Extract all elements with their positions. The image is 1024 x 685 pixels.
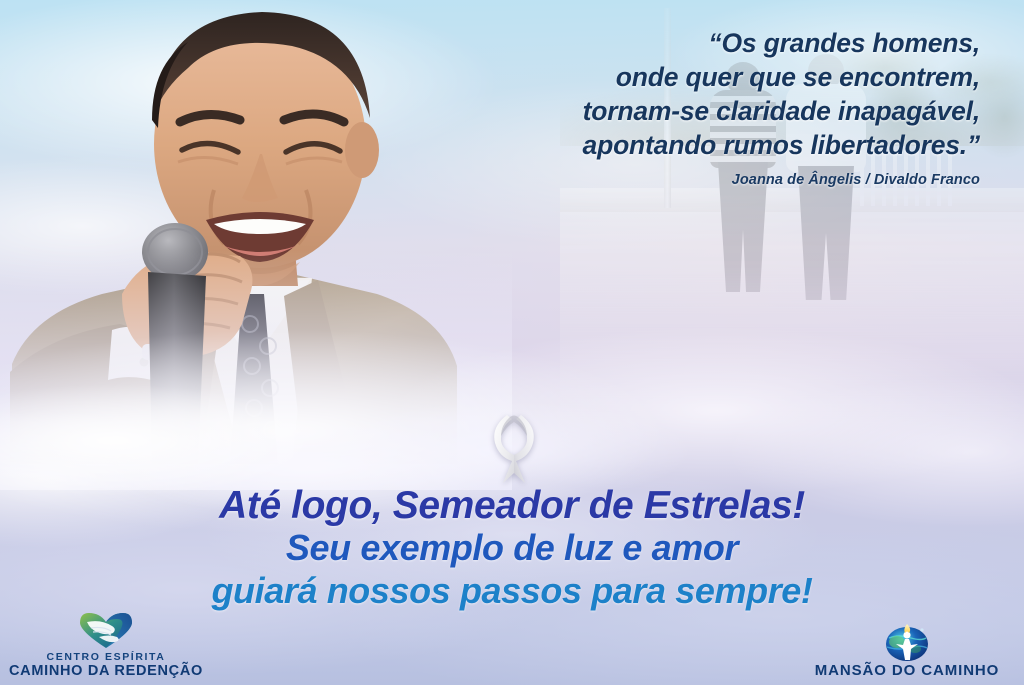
headline-line-3: guiará nossos passos para sempre! xyxy=(0,571,1024,611)
globe-torch-icon xyxy=(796,622,1018,662)
logo-right-line-2: MANSÃO DO CAMINHO xyxy=(796,662,1018,679)
logo-left-line-1: CENTRO ESPÍRITA xyxy=(8,651,204,663)
logo-left-line-2: CAMINHO DA REDENÇÃO xyxy=(8,663,204,679)
headline-line-1: Até logo, Semeador de Estrelas! xyxy=(0,486,1024,525)
quote-line-4: apontando rumos libertadores.” xyxy=(360,128,980,162)
quote-attribution: Joanna de Ângelis / Divaldo Franco xyxy=(360,172,980,188)
mourning-ribbon-icon xyxy=(481,409,547,485)
headline-line-2: Seu exemplo de luz e amor xyxy=(0,528,1024,568)
quote-line-3: tornam-se claridade inapagável, xyxy=(360,94,980,128)
heart-hands-icon xyxy=(8,610,204,650)
logo-mansao-do-caminho[interactable]: MANSÃO DO CAMINHO xyxy=(796,622,1018,679)
quote-line-1: “Os grandes homens, xyxy=(360,26,980,60)
memorial-poster: “Os grandes homens, onde quer que se enc… xyxy=(0,0,1024,685)
logo-centro-espirita[interactable]: CENTRO ESPÍRITA CAMINHO DA REDENÇÃO xyxy=(8,610,204,679)
tribute-headline: Até logo, Semeador de Estrelas! Seu exem… xyxy=(0,486,1024,611)
quote-text: “Os grandes homens, onde quer que se enc… xyxy=(360,26,980,162)
quote-line-2: onde quer que se encontrem, xyxy=(360,60,980,94)
